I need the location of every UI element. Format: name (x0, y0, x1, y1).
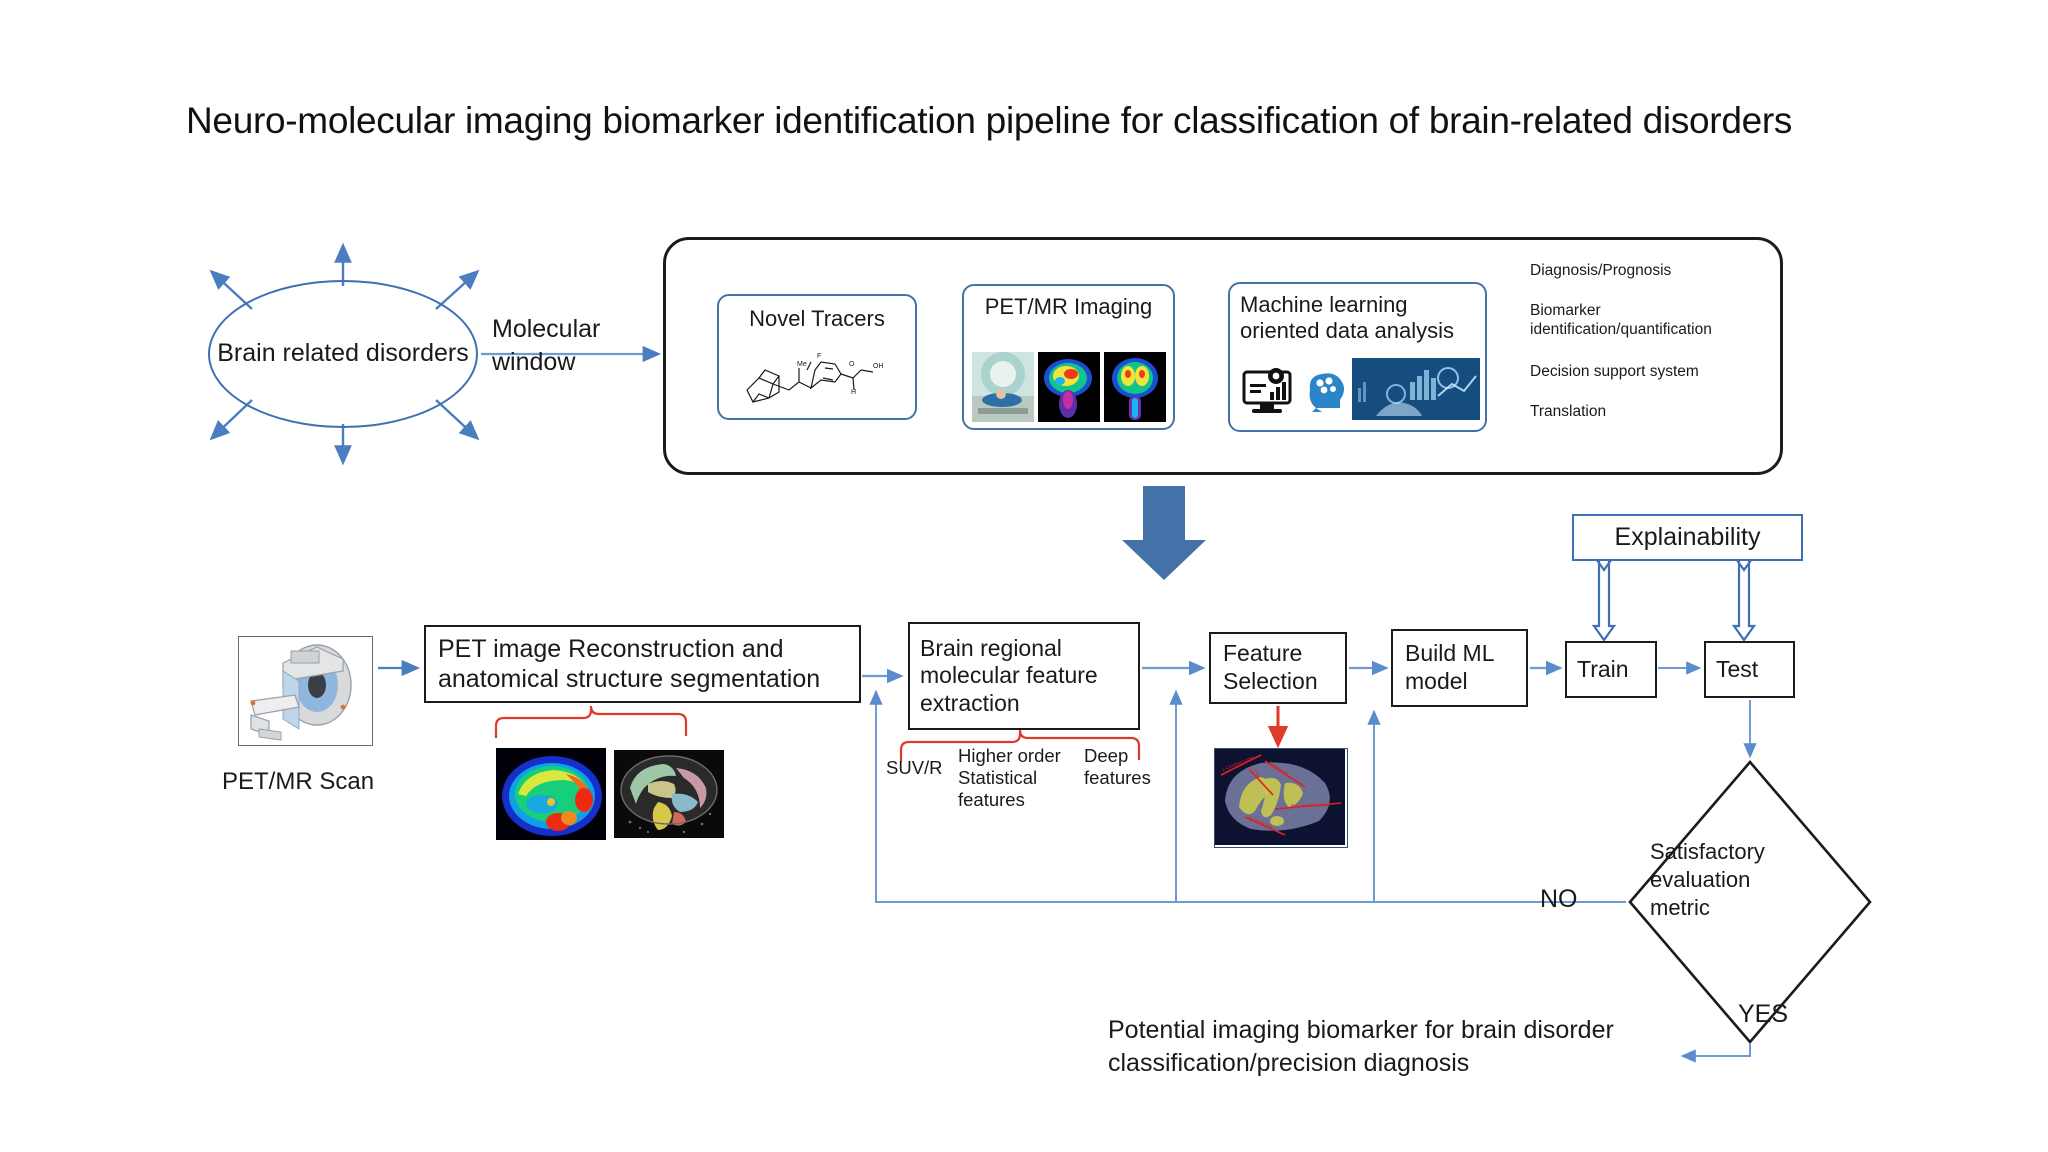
explainability-label: Explainability (1615, 523, 1761, 552)
feature-type-suvr: SUV/R (886, 757, 966, 779)
outcome-item-2: Decision support system (1530, 363, 1770, 382)
no-branch-label: NO (1540, 885, 1578, 914)
down-block-arrow (1122, 486, 1206, 580)
outcome-item-0: Diagnosis/Prognosis (1530, 262, 1770, 281)
feature-type-statistical: Higher order Statistical features (958, 745, 1078, 812)
brain-gear-icon (1302, 368, 1350, 412)
step-feature-selection[interactable]: Feature Selection (1209, 632, 1347, 704)
region-annotated-brain-image: L-Cerebral cortex L-Thal L-Putamen R-Acc… (1214, 748, 1348, 848)
machine-learning-label: Machine learning oriented data analysis (1230, 292, 1485, 344)
yes-branch-label: YES (1738, 1000, 1788, 1029)
decision-label: Satisfactory evaluation metric (1650, 838, 1812, 922)
stage-novel-tracers[interactable]: Novel Tracers Me F H O OH (717, 294, 917, 420)
svg-text:R-Accumbens area: R-Accumbens area (1291, 803, 1330, 808)
step-extract-label: Brain regional molecular feature extract… (920, 635, 1128, 717)
explainability-arrows (1594, 556, 1754, 640)
svg-text:F: F (817, 353, 821, 360)
pet-mr-imaging-label: PET/MR Imaging (964, 294, 1173, 320)
brain-pet-coronal (1104, 352, 1166, 422)
pet-mr-scanner-icon (239, 637, 371, 744)
segmented-mr-brain-image (614, 750, 724, 838)
step-test-label: Test (1716, 656, 1783, 683)
step-feature-extraction[interactable]: Brain regional molecular feature extract… (908, 622, 1140, 730)
outcome-list: Diagnosis/Prognosis Biomarker identifica… (1530, 262, 1775, 452)
molecular-window-label: Molecular window (492, 313, 642, 378)
step-train[interactable]: Train (1565, 641, 1657, 698)
brain-disorders-ellipse[interactable]: Brain related disorders (208, 280, 478, 428)
brain-pet-sagittal (1038, 352, 1100, 422)
diagram-canvas: Neuro-molecular imaging biomarker identi… (0, 0, 2048, 1152)
step-pet-reconstruction[interactable]: PET image Reconstruction and anatomical … (424, 625, 861, 703)
recon-brace (496, 706, 686, 738)
explainability-box[interactable]: Explainability (1572, 514, 1803, 561)
novel-tracers-label: Novel Tracers (719, 306, 915, 332)
molecule-structure-icon: Me F H O OH (721, 344, 917, 418)
brain-disorders-label: Brain related disorders (217, 338, 469, 369)
page-title: Neuro-molecular imaging biomarker identi… (186, 100, 1906, 142)
data-analysis-photo (1352, 358, 1480, 420)
pet-mr-scan-label: PET/MR Scan (222, 768, 412, 796)
step-build-ml-model[interactable]: Build ML model (1391, 629, 1528, 707)
outcome-item-3: Translation (1530, 403, 1770, 422)
stage-machine-learning[interactable]: Machine learning oriented data analysis (1228, 282, 1487, 432)
svg-text:OH: OH (873, 363, 884, 370)
feature-type-deep: Deep features (1084, 745, 1170, 789)
pet-mr-scanner-box (238, 636, 373, 746)
scanner-photo (972, 352, 1034, 422)
step-select-label: Feature Selection (1223, 640, 1333, 695)
svg-text:H: H (851, 389, 856, 396)
step-train-label: Train (1577, 656, 1645, 683)
outcome-item-1: Biomarker identification/quantification (1530, 302, 1770, 340)
final-result-text: Potential imaging biomarker for brain di… (1108, 1014, 1708, 1080)
stage-pet-mr-imaging[interactable]: PET/MR Imaging (962, 284, 1175, 430)
pet-heatmap-brain-image (496, 748, 606, 840)
step-recon-label: PET image Reconstruction and anatomical … (438, 634, 847, 694)
step-build-label: Build ML model (1405, 640, 1514, 695)
connector-layer (0, 0, 2048, 1152)
step-test[interactable]: Test (1704, 641, 1795, 698)
computer-analytics-icon (1242, 366, 1302, 416)
svg-text:O: O (849, 361, 855, 368)
svg-text:Me: Me (797, 361, 807, 368)
